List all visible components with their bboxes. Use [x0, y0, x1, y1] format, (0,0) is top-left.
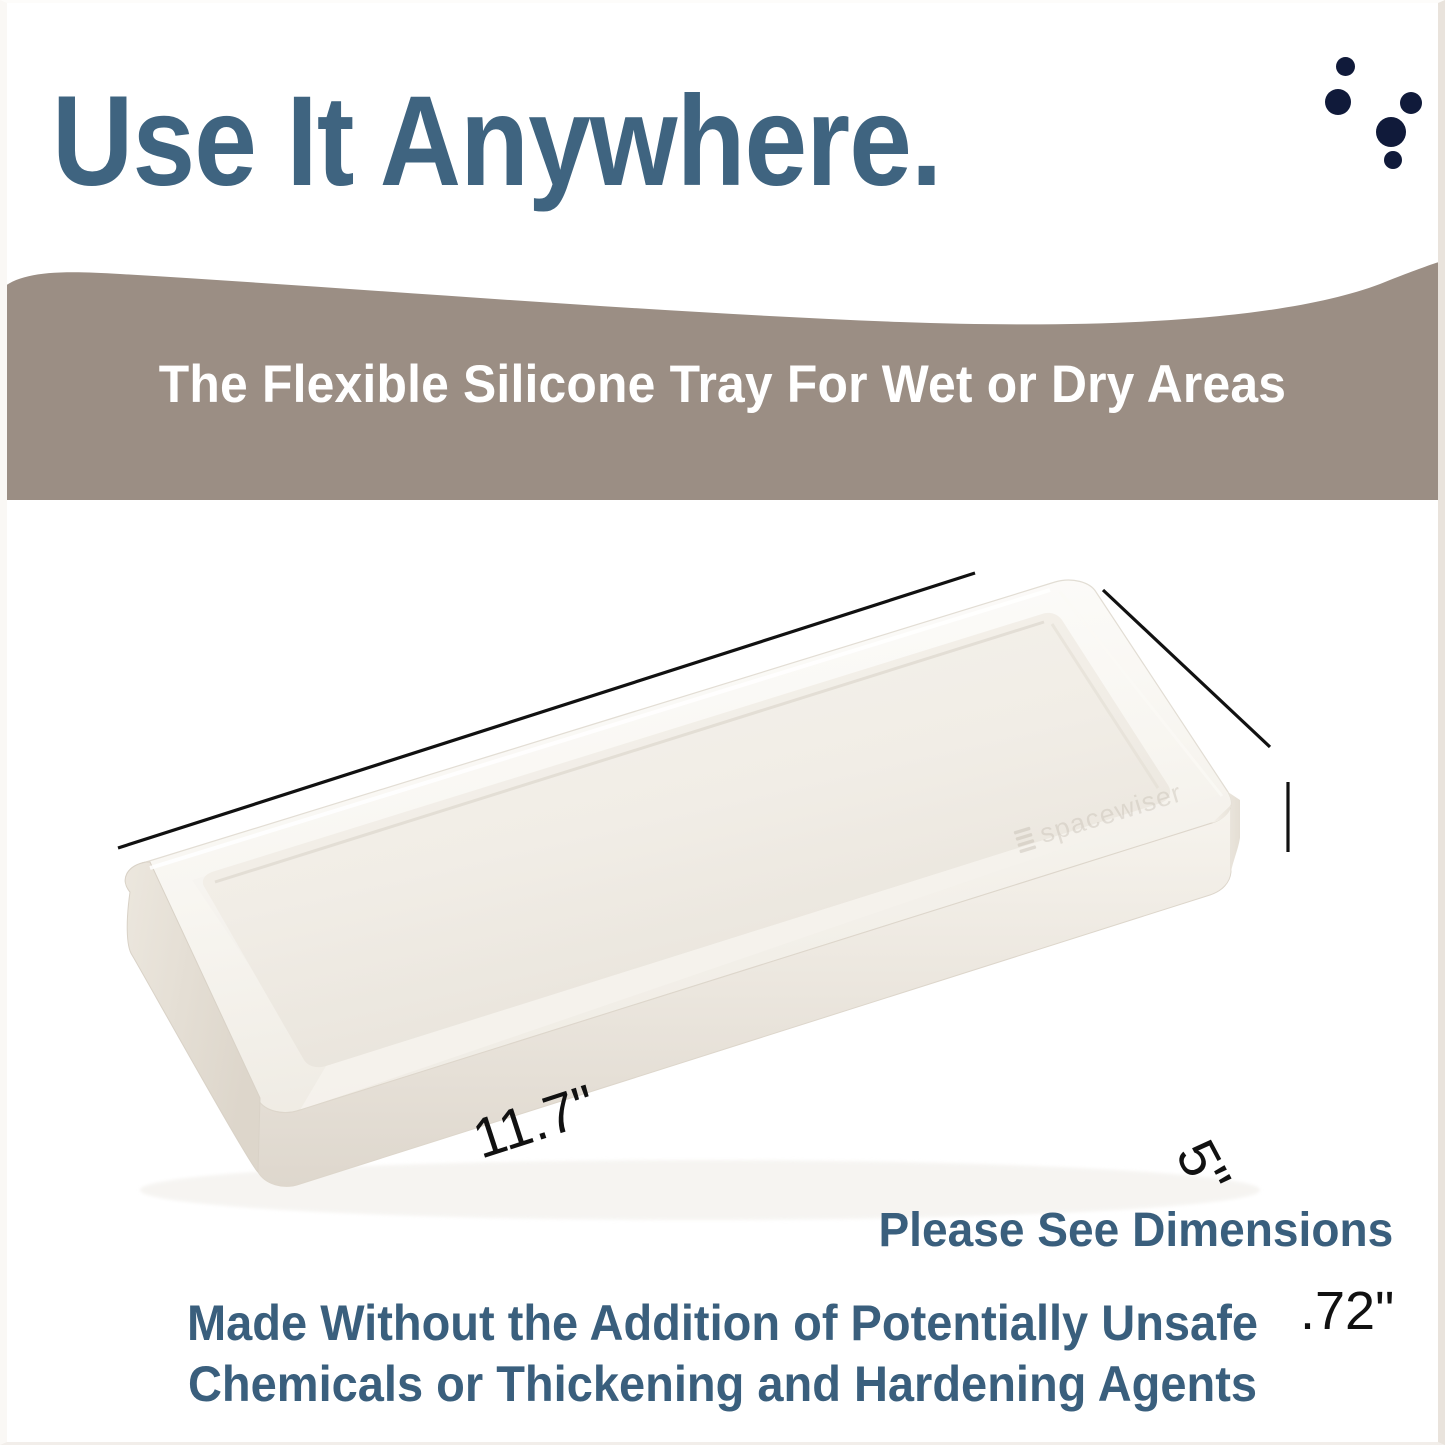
product-infographic: Use It Anywhere. The Flexible Silicone T… — [0, 0, 1445, 1445]
product-image-area: spacewiser 11.7" 5" .72" FLEXIBLE — [0, 500, 1445, 1260]
banner-subtitle: The Flexible Silicone Tray For Wet or Dr… — [43, 354, 1401, 415]
please-see-dimensions-text: Please See Dimensions — [878, 1203, 1393, 1258]
dot-center-large-icon — [1376, 117, 1406, 147]
safety-claim-line-2: Chemicals or Thickening and Hardening Ag… — [43, 1354, 1401, 1415]
subtitle-banner: The Flexible Silicone Tray For Wet or Dr… — [0, 250, 1445, 500]
dot-left-icon — [1325, 89, 1351, 115]
dot-bottom-icon — [1384, 151, 1402, 169]
safety-claim-line-1: Made Without the Addition of Potentially… — [43, 1293, 1401, 1354]
decorative-dot-cluster — [0, 0, 1445, 220]
dot-right-icon — [1400, 92, 1422, 114]
dot-top-icon — [1336, 57, 1355, 76]
safety-claim-block: Made Without the Addition of Potentially… — [0, 1293, 1445, 1414]
